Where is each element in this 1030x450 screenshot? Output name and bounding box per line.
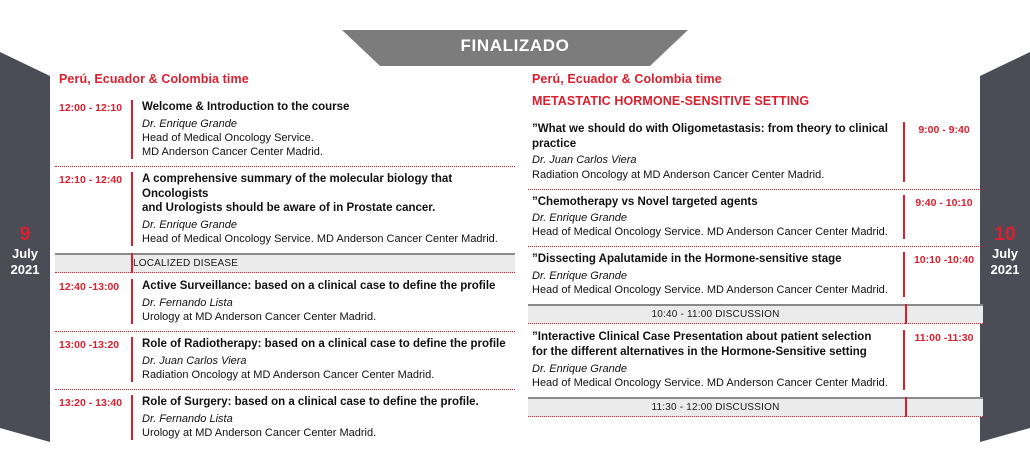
table-row: 13:00 -13:20 Role of Radiotherapy: based…	[55, 331, 515, 389]
session-title: Role of Surgery: based on a clinical cas…	[142, 395, 515, 410]
table-row: 12:10 - 12:40 A comprehensive summary of…	[55, 166, 515, 253]
session-time: 12:00 - 12:10	[55, 100, 131, 114]
status-ribbon-label: FINALIZADO	[342, 30, 688, 62]
session-time: 9:40 - 10:10	[905, 195, 983, 209]
session-affiliation: Head of Medical Oncology Service. MD And…	[532, 225, 895, 239]
session-time: 10:10 -10:40	[905, 252, 983, 266]
day-tab-left-content: 9 July 2021	[0, 224, 50, 278]
table-row: 13:20 - 13:40 Role of Surgery: based on …	[55, 389, 515, 447]
timezone-label: Perú, Ecuador & Colombia time	[59, 72, 515, 86]
session-title: Active Surveillance: based on a clinical…	[142, 279, 515, 294]
discussion-band-2: 11:30 - 12:00 DISCUSSION	[528, 397, 983, 417]
band-accent-tick	[905, 304, 907, 324]
section-band-localized-disease: LOCALIZED DISEASE	[55, 253, 515, 273]
table-row: 11:00 -11:30 ”Interactive Clinical Case …	[528, 324, 983, 397]
session-speaker: Dr. Enrique Grande	[142, 218, 515, 232]
session-body: Role of Radiotherapy: based on a clinica…	[133, 337, 515, 382]
session-affiliation-line2: MD Anderson Cancer Center Madrid.	[142, 145, 515, 159]
timezone-label: Perú, Ecuador & Colombia time	[532, 72, 983, 86]
table-row: 9:00 - 9:40 ”What we should do with Olig…	[528, 116, 983, 189]
session-affiliation: Urology at MD Anderson Cancer Center Mad…	[142, 426, 515, 440]
agenda-column-july-10: Perú, Ecuador & Colombia time METASTATIC…	[528, 72, 983, 417]
band-accent-tick	[131, 253, 133, 273]
day-year: 2021	[0, 263, 50, 278]
session-affiliation: Urology at MD Anderson Cancer Center Mad…	[142, 310, 515, 324]
discussion-band-label: 10:40 - 11:00 DISCUSSION	[528, 306, 983, 323]
table-row: 12:40 -13:00 Active Surveillance: based …	[55, 273, 515, 331]
session-body: Active Surveillance: based on a clinical…	[133, 279, 515, 324]
status-ribbon: FINALIZADO	[342, 30, 688, 66]
session-time: 12:10 - 12:40	[55, 172, 131, 186]
session-title: Welcome & Introduction to the course	[142, 100, 515, 115]
session-body: ”Chemotherapy vs Novel targeted agents D…	[528, 195, 903, 240]
discussion-band-1: 10:40 - 11:00 DISCUSSION	[528, 304, 983, 324]
session-affiliation: Radiation Oncology at MD Anderson Cancer…	[532, 168, 895, 182]
session-title-line2: and Urologists should be aware of in Pro…	[142, 201, 515, 216]
section-band-label: LOCALIZED DISEASE	[55, 255, 515, 272]
band-accent-tick	[905, 397, 907, 417]
day-tab-right-content: 10 July 2021	[980, 224, 1030, 278]
session-title: A comprehensive summary of the molecular…	[142, 172, 515, 201]
session-affiliation: Head of Medical Oncology Service.	[142, 131, 515, 145]
session-speaker: Dr. Fernando Lista	[142, 296, 515, 310]
discussion-band-label: 11:30 - 12:00 DISCUSSION	[528, 399, 983, 416]
session-time: 11:00 -11:30	[905, 330, 983, 344]
table-row: 9:40 - 10:10 ”Chemotherapy vs Novel targ…	[528, 189, 983, 247]
session-title-line2: for the different alternatives in the Ho…	[532, 345, 895, 360]
day-tab-july-10: 10 July 2021	[980, 52, 1030, 442]
session-time: 12:40 -13:00	[55, 279, 131, 293]
session-body: ”Dissecting Apalutamide in the Hormone-s…	[528, 252, 903, 297]
session-speaker: Dr. Juan Carlos Viera	[532, 153, 895, 167]
session-speaker: Dr. Fernando Lista	[142, 412, 515, 426]
session-affiliation: Head of Medical Oncology Service. MD And…	[142, 232, 515, 246]
session-time: 13:00 -13:20	[55, 337, 131, 351]
session-body: Welcome & Introduction to the course Dr.…	[133, 100, 515, 159]
table-row: 10:10 -10:40 ”Dissecting Apalutamide in …	[528, 246, 983, 304]
session-speaker: Dr. Enrique Grande	[142, 117, 515, 131]
session-body: A comprehensive summary of the molecular…	[133, 172, 515, 246]
session-speaker: Dr. Enrique Grande	[532, 211, 895, 225]
session-body: Role of Surgery: based on a clinical cas…	[133, 395, 515, 440]
day-month: July	[980, 247, 1030, 262]
day-month: July	[0, 247, 50, 262]
day-year: 2021	[980, 263, 1030, 278]
day-tab-july-9: 9 July 2021	[0, 52, 50, 442]
section-heading-metastatic: METASTATIC HORMONE-SENSITIVE SETTING	[532, 94, 983, 108]
session-title: ”Chemotherapy vs Novel targeted agents	[532, 195, 895, 210]
session-speaker: Dr. Enrique Grande	[532, 269, 895, 283]
session-title: ”Dissecting Apalutamide in the Hormone-s…	[532, 252, 895, 267]
session-time: 13:20 - 13:40	[55, 395, 131, 409]
session-affiliation: Radiation Oncology at MD Anderson Cancer…	[142, 368, 515, 382]
agenda-column-july-9: Perú, Ecuador & Colombia time 12:00 - 12…	[55, 72, 515, 447]
session-body: ”What we should do with Oligometastasis:…	[528, 122, 903, 182]
session-body: ”Interactive Clinical Case Presentation …	[528, 330, 903, 390]
session-title: ”What we should do with Oligometastasis:…	[532, 122, 895, 151]
session-speaker: Dr. Enrique Grande	[532, 362, 895, 376]
session-speaker: Dr. Juan Carlos Viera	[142, 354, 515, 368]
session-time: 9:00 - 9:40	[905, 122, 983, 136]
day-number: 10	[980, 224, 1030, 246]
session-affiliation: Head of Medical Oncology Service. MD And…	[532, 283, 895, 297]
day-number: 9	[0, 224, 50, 246]
session-affiliation: Head of Medical Oncology Service. MD And…	[532, 376, 895, 390]
session-title: Role of Radiotherapy: based on a clinica…	[142, 337, 515, 352]
session-title: ”Interactive Clinical Case Presentation …	[532, 330, 895, 345]
table-row: 12:00 - 12:10 Welcome & Introduction to …	[55, 94, 515, 166]
